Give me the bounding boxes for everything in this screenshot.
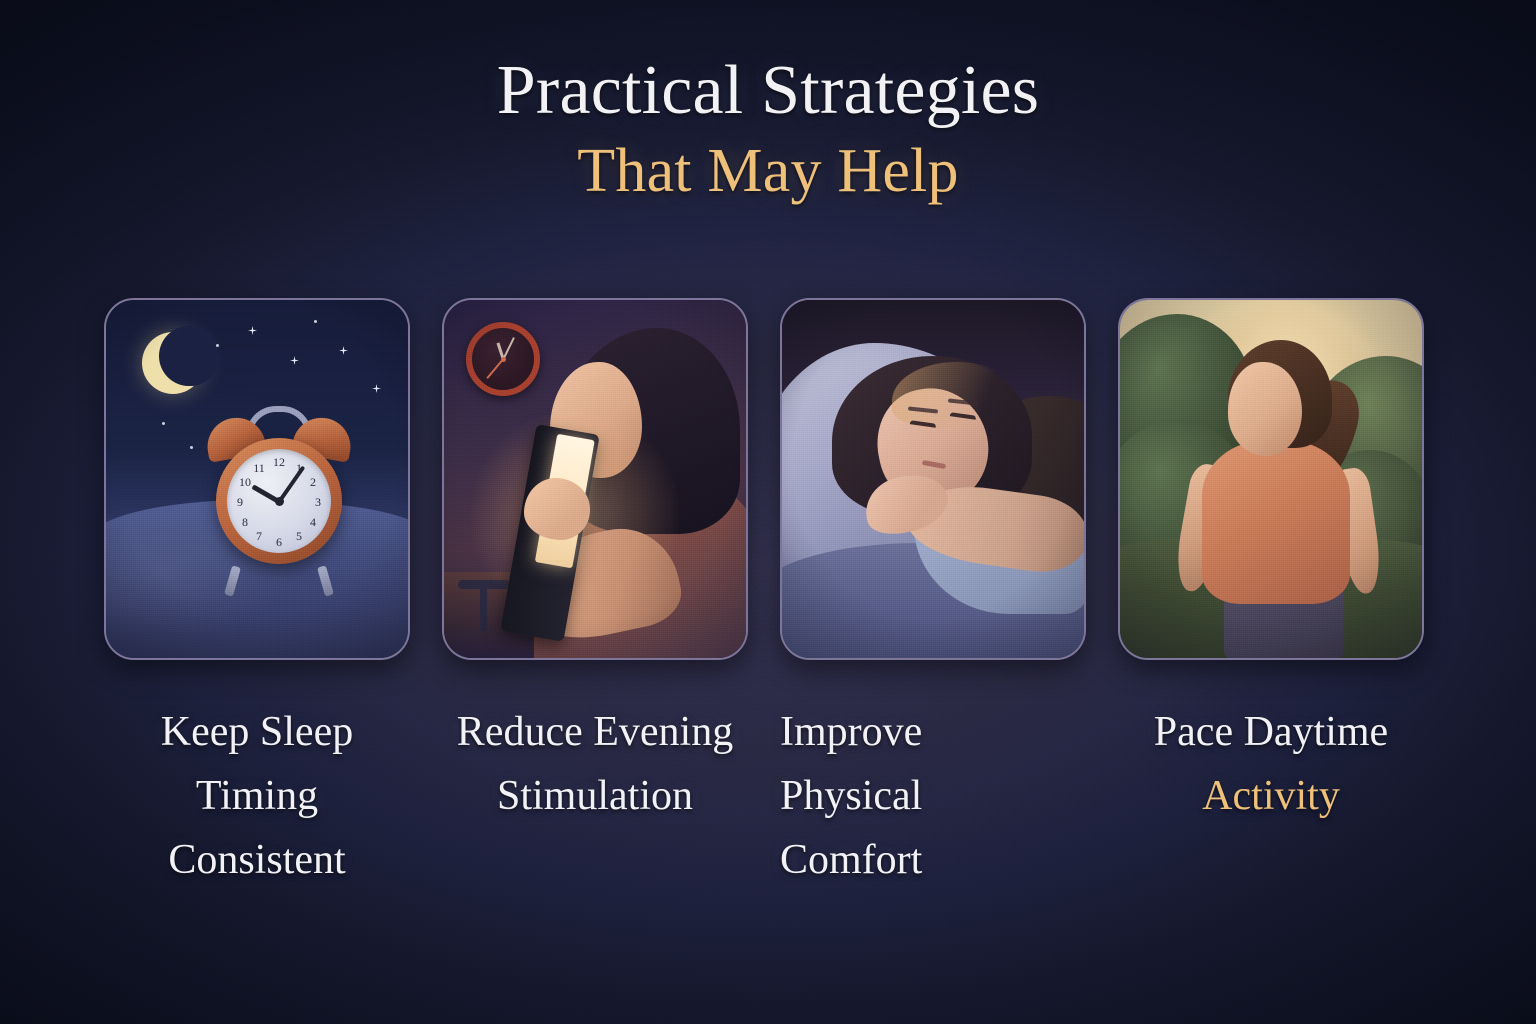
caption-line: Improve <box>780 700 1086 764</box>
star-icon <box>216 344 219 347</box>
caption-line: Consistent <box>104 828 410 892</box>
star-icon <box>162 422 165 425</box>
sleeping-woman-illustration <box>782 300 1084 658</box>
star-icon <box>314 320 317 323</box>
clock-numeral: 9 <box>233 495 247 509</box>
clock-numeral: 4 <box>306 515 320 529</box>
clock-numeral: 12 <box>272 455 286 469</box>
wall-clock-center-pin <box>501 357 506 362</box>
star-icon <box>190 446 193 449</box>
clock-numeral: 5 <box>292 529 306 543</box>
clock-numeral: 7 <box>252 529 266 543</box>
clock-center-pin <box>275 497 284 506</box>
clock-numeral: 6 <box>272 535 286 549</box>
evening-screen-use-illustration <box>444 300 746 658</box>
star-icon <box>372 384 381 393</box>
star-icon <box>248 326 257 335</box>
caption-line: Reduce Evening <box>442 700 748 764</box>
caption-reduce-evening-stimulation: Reduce Evening Stimulation <box>442 700 748 892</box>
caption-line: Timing <box>104 764 410 828</box>
alarm-clock-icon: 12 1 2 3 4 5 6 7 8 9 10 11 <box>204 406 354 596</box>
caption-improve-physical-comfort: Improve Physical Comfort <box>780 700 1086 892</box>
caption-line: Stimulation <box>442 764 748 828</box>
caption-keep-sleep-timing-consistent: Keep Sleep Timing Consistent <box>104 700 410 892</box>
strategy-card-improve-physical-comfort[interactable] <box>780 298 1086 660</box>
clock-face: 12 1 2 3 4 5 6 7 8 9 10 11 <box>227 449 331 553</box>
star-icon <box>290 356 299 365</box>
star-icon <box>339 346 348 355</box>
strategy-card-row: 12 1 2 3 4 5 6 7 8 9 10 11 <box>104 298 1438 660</box>
title-line-primary: Practical Strategies <box>0 52 1536 130</box>
clock-foot-left <box>224 565 241 596</box>
clock-numeral: 10 <box>238 475 252 489</box>
caption-line: Physical <box>780 764 1086 828</box>
clock-bezel: 12 1 2 3 4 5 6 7 8 9 10 11 <box>216 438 342 564</box>
page-title: Practical Strategies That May Help <box>0 52 1536 208</box>
wall-clock-icon <box>466 322 540 396</box>
strategy-card-reduce-evening-stimulation[interactable] <box>442 298 748 660</box>
crescent-moon-icon <box>142 332 204 394</box>
caption-pace-daytime-activity: Pace Daytime Activity <box>1118 700 1424 892</box>
caption-line: Keep Sleep <box>104 700 410 764</box>
title-line-accent: That May Help <box>0 134 1536 208</box>
person-shirt <box>1202 440 1350 604</box>
caption-line-accent: Activity <box>1118 764 1424 828</box>
strategy-card-keep-sleep-timing-consistent[interactable]: 12 1 2 3 4 5 6 7 8 9 10 11 <box>104 298 410 660</box>
clock-numeral: 3 <box>311 495 325 509</box>
person-face <box>1228 362 1302 456</box>
walking-outdoors-illustration <box>1120 300 1422 658</box>
clock-numeral: 8 <box>238 515 252 529</box>
wall-clock-second-hand <box>487 360 504 379</box>
person-hand <box>524 478 590 540</box>
caption-line: Pace Daytime <box>1118 700 1424 764</box>
clock-foot-right <box>317 565 334 596</box>
person-hair-highlight <box>892 362 1018 428</box>
strategy-card-pace-daytime-activity[interactable] <box>1118 298 1424 660</box>
caption-line: Comfort <box>780 828 1086 892</box>
slide-canvas: Practical Strategies That May Help <box>0 0 1536 1024</box>
night-alarm-clock-illustration: 12 1 2 3 4 5 6 7 8 9 10 11 <box>106 300 408 658</box>
clock-numeral: 2 <box>306 475 320 489</box>
caption-row: Keep Sleep Timing Consistent Reduce Even… <box>104 700 1438 892</box>
clock-numeral: 11 <box>252 461 266 475</box>
